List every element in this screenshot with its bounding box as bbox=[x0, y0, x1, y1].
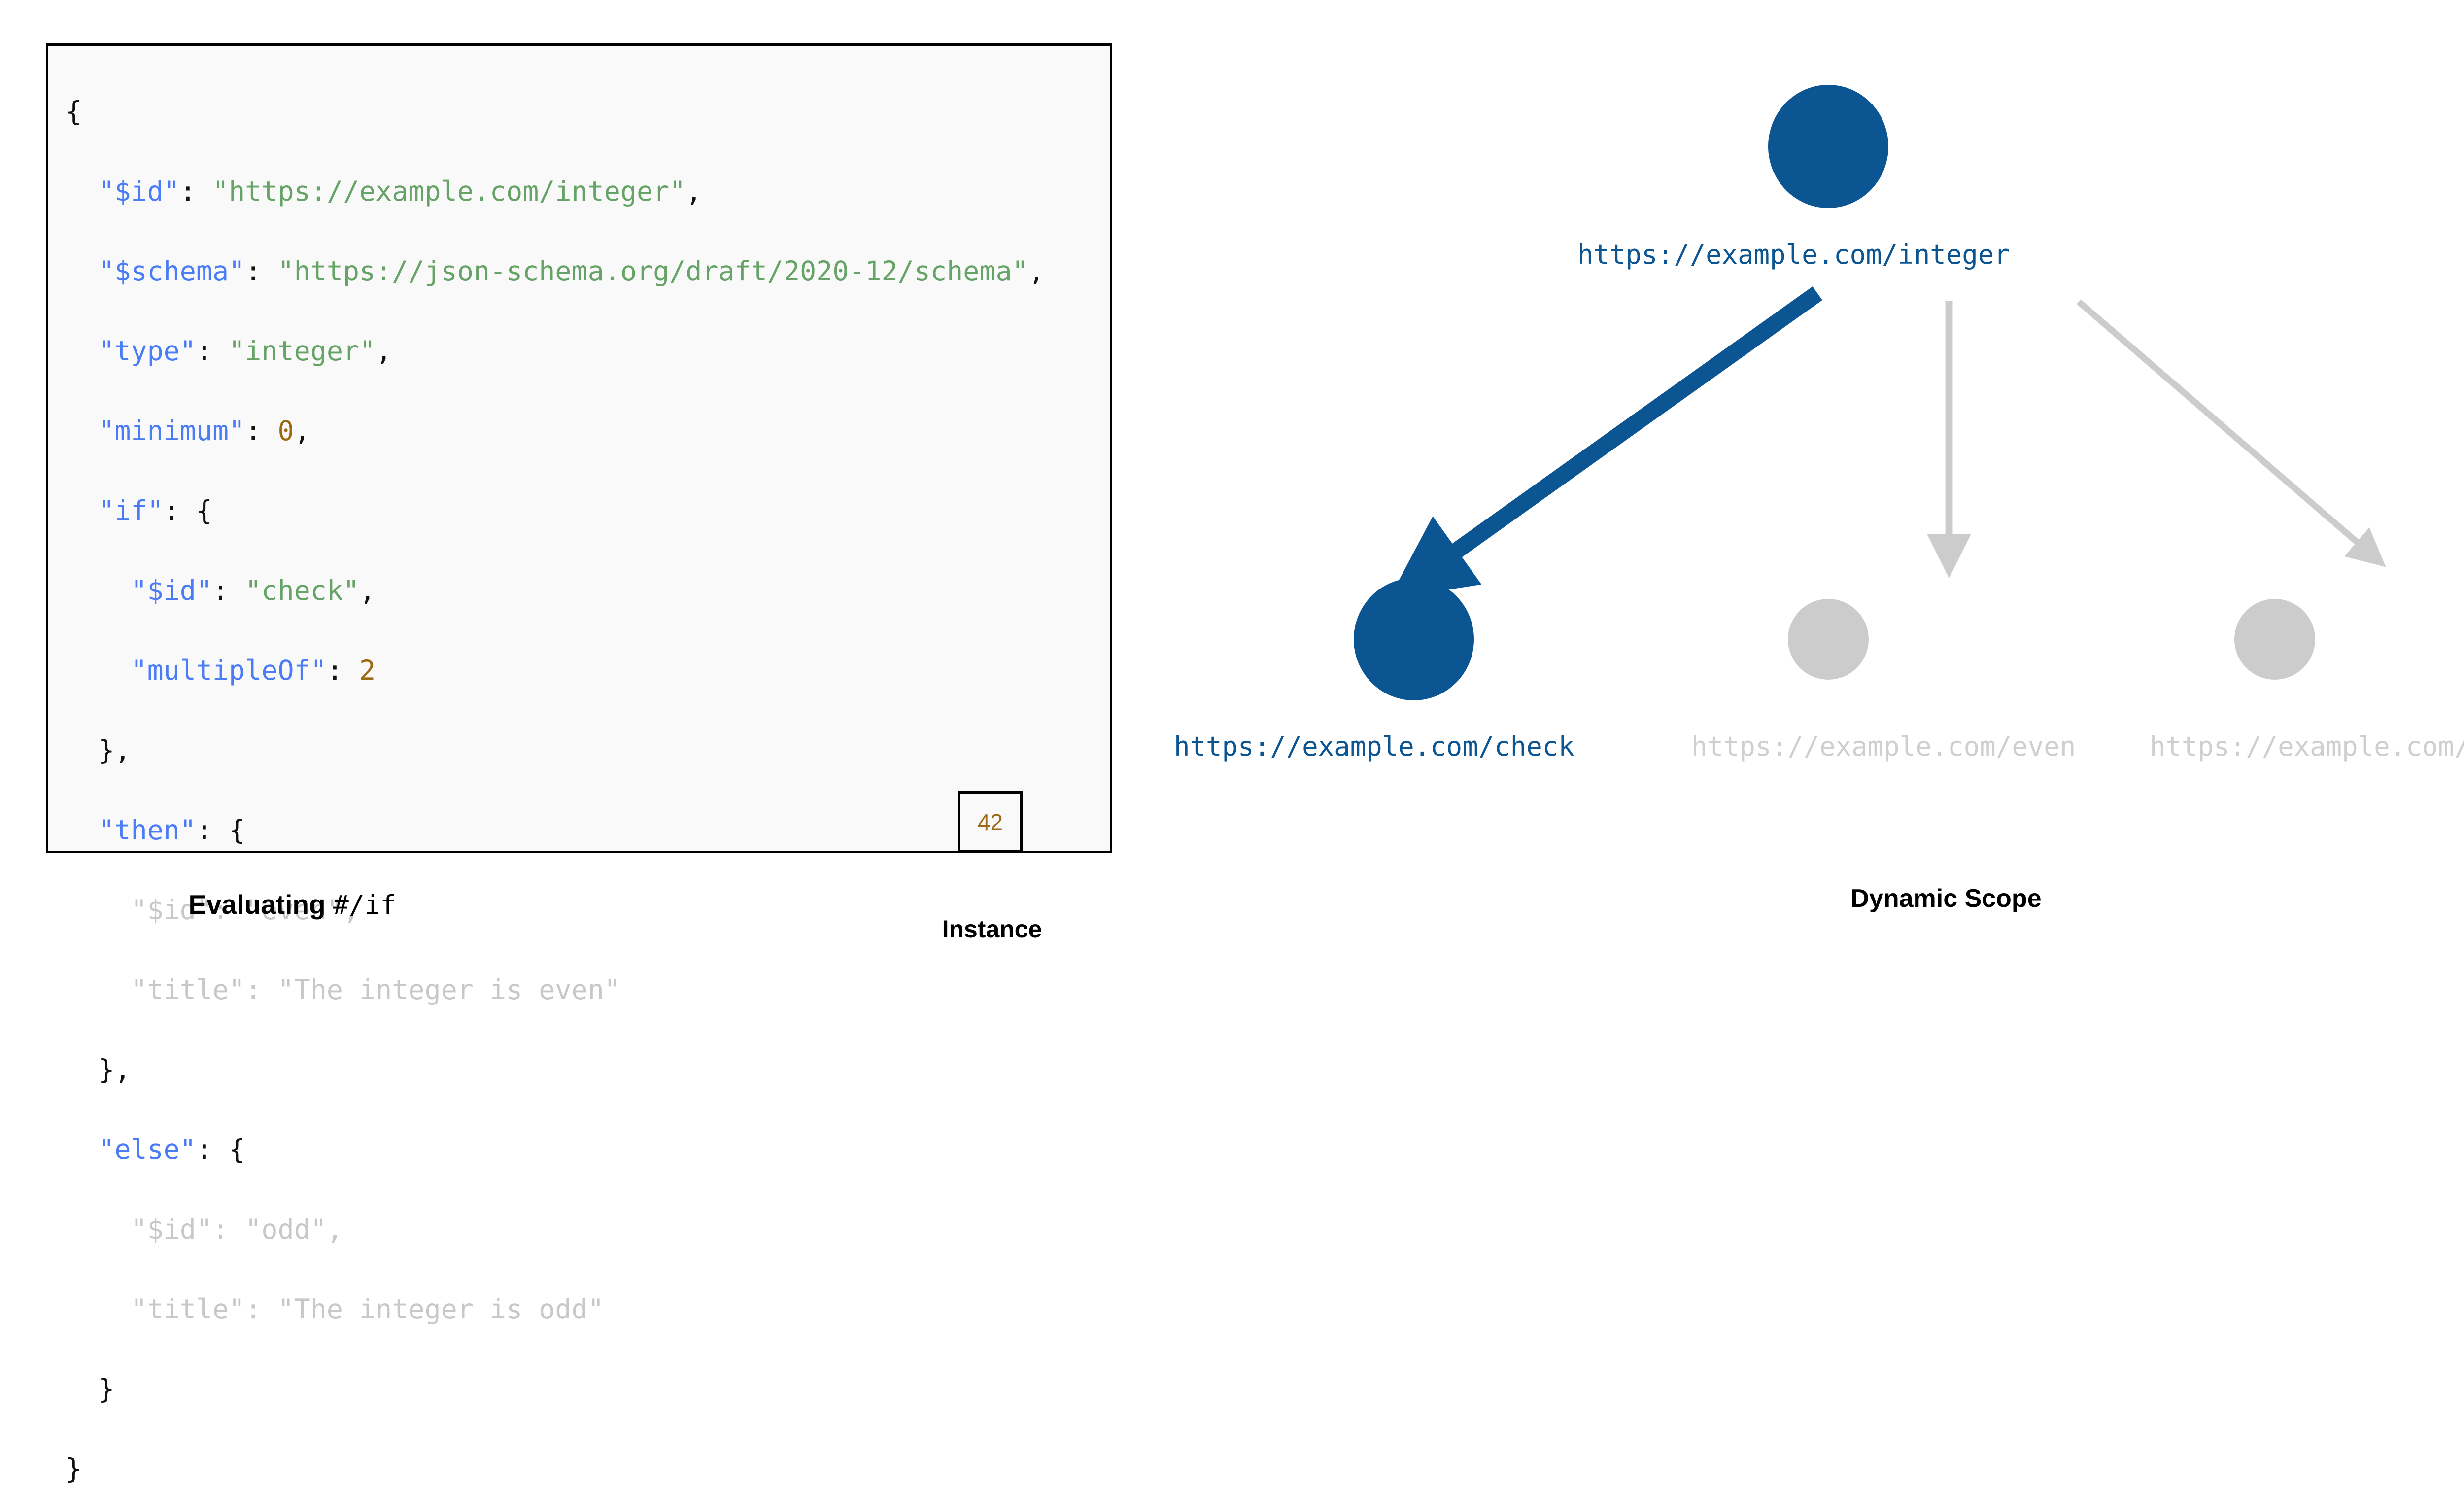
code-token: }, bbox=[98, 734, 131, 766]
code-line: { bbox=[66, 92, 1045, 132]
code-token: , bbox=[359, 575, 376, 606]
code-token: , bbox=[685, 175, 702, 207]
code-token: "then" bbox=[98, 814, 196, 846]
code-line: "$id": "odd", bbox=[66, 1210, 1045, 1249]
code-line: "$id": "check", bbox=[66, 571, 1045, 611]
code-line: "if": { bbox=[66, 491, 1045, 531]
code-token: { bbox=[66, 96, 82, 127]
code-line: "$schema": "https://json-schema.org/draf… bbox=[66, 251, 1045, 291]
code-token: }, bbox=[98, 1054, 131, 1085]
code-token: "$id" bbox=[131, 575, 212, 606]
schema-code-listing: { "$id": "https://example.com/integer", … bbox=[66, 92, 1045, 1489]
graph-node-check[interactable] bbox=[1354, 578, 1474, 700]
code-token: "if" bbox=[98, 495, 163, 526]
schema-code-box: { "$id": "https://example.com/integer", … bbox=[46, 43, 1112, 853]
evaluating-caption: Evaluating #/if bbox=[46, 889, 539, 920]
instance-caption: Instance bbox=[881, 915, 1103, 943]
code-token: 0 bbox=[277, 415, 294, 447]
code-token: "title": "The integer is even" bbox=[131, 974, 620, 1005]
code-line: "type": "integer", bbox=[66, 331, 1045, 371]
code-token: "minimum" bbox=[98, 415, 245, 447]
code-line: }, bbox=[66, 1050, 1045, 1090]
dynamic-scope-caption: Dynamic Scope bbox=[1650, 884, 2242, 913]
code-token: : bbox=[245, 255, 277, 287]
graph-node-label-even: https://example.com/even bbox=[1691, 733, 2076, 760]
graph-node-odd[interactable] bbox=[2234, 599, 2315, 680]
graph-node-even[interactable] bbox=[1788, 599, 1869, 680]
code-token: "https://json-schema.org/draft/2020-12/s… bbox=[277, 255, 1028, 287]
code-line: } bbox=[66, 1449, 1045, 1489]
code-token: } bbox=[98, 1373, 114, 1405]
evaluating-caption-prefix: Evaluating bbox=[188, 889, 333, 920]
code-line: "else": { bbox=[66, 1130, 1045, 1170]
code-line: "title": "The integer is odd" bbox=[66, 1289, 1045, 1329]
code-line: "$id": "https://example.com/integer", bbox=[66, 172, 1045, 211]
graph-node-integer[interactable] bbox=[1768, 85, 1888, 208]
code-line: }, bbox=[66, 730, 1045, 770]
code-token: } bbox=[66, 1453, 82, 1485]
code-token: "https://example.com/integer" bbox=[212, 175, 685, 207]
dynamic-scope-panel: https://example.com/integer https://exam… bbox=[1183, 0, 2464, 989]
code-token: : { bbox=[196, 814, 245, 846]
code-token: : { bbox=[164, 495, 212, 526]
code-token: "check" bbox=[245, 575, 359, 606]
evaluating-caption-pointer: #/if bbox=[333, 890, 396, 920]
code-token: "integer" bbox=[229, 335, 376, 367]
code-token: "$schema" bbox=[98, 255, 245, 287]
code-token: "else" bbox=[98, 1134, 196, 1165]
edge-integer-to-odd bbox=[2079, 302, 2371, 554]
code-token: "$id" bbox=[98, 175, 180, 207]
code-token: "type" bbox=[98, 335, 196, 367]
code-token: , bbox=[294, 415, 310, 447]
code-token: , bbox=[376, 335, 392, 367]
code-token: "title": "The integer is odd" bbox=[131, 1293, 604, 1325]
dynamic-scope-graph bbox=[1183, 0, 2464, 989]
code-line: "multipleOf": 2 bbox=[66, 651, 1045, 691]
code-token: : bbox=[196, 335, 229, 367]
code-token: : bbox=[212, 575, 245, 606]
code-token: : { bbox=[196, 1134, 245, 1165]
graph-node-label-integer: https://example.com/integer bbox=[1577, 242, 2010, 268]
edge-integer-to-check bbox=[1427, 293, 1817, 572]
code-token: "$id": "odd", bbox=[131, 1213, 342, 1245]
instance-value: 42 bbox=[978, 811, 1003, 833]
code-token: "multipleOf" bbox=[131, 655, 326, 686]
instance-box: 42 bbox=[958, 791, 1023, 853]
code-token: : bbox=[327, 655, 359, 686]
code-line: } bbox=[66, 1369, 1045, 1409]
code-line: "minimum": 0, bbox=[66, 411, 1045, 451]
schema-panel: { "$id": "https://example.com/integer", … bbox=[0, 0, 1183, 989]
graph-node-label-check: https://example.com/check bbox=[1174, 733, 1574, 760]
code-line: "title": "The integer is even" bbox=[66, 970, 1045, 1010]
code-token: : bbox=[245, 415, 277, 447]
code-token: : bbox=[180, 175, 212, 207]
code-line: "then": { bbox=[66, 810, 1045, 850]
code-token: , bbox=[1028, 255, 1045, 287]
graph-node-label-odd: https://example.com/odd bbox=[2150, 733, 2464, 760]
code-token: 2 bbox=[359, 655, 376, 686]
